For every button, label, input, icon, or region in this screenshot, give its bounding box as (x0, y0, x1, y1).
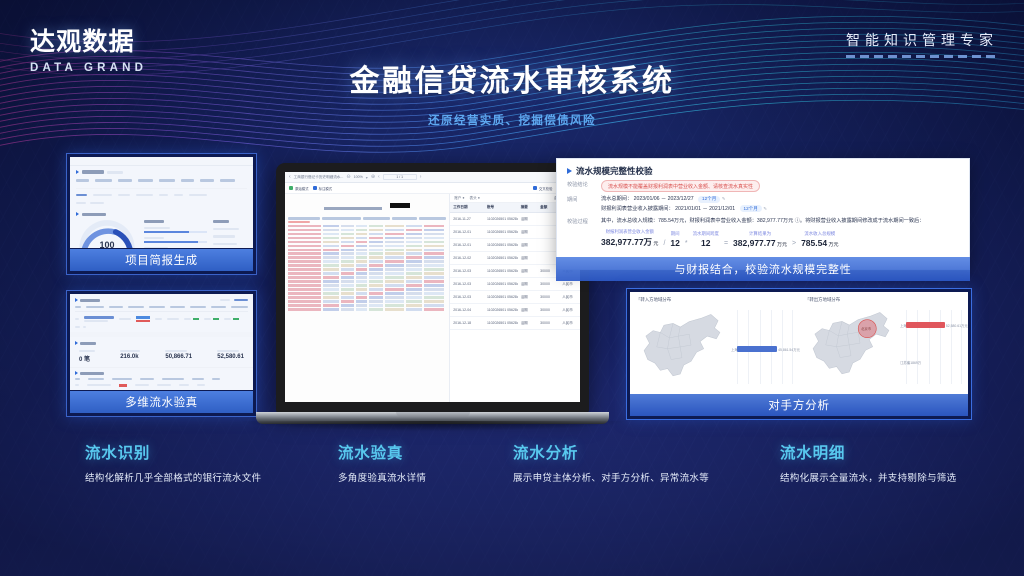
formula-item-6: 计算结果为382,977.77 万元 (733, 231, 787, 248)
table-cell: 1102026501 05628d490 (484, 243, 518, 247)
zoom-out-icon[interactable]: ⊖ (346, 174, 350, 180)
document-cell (369, 249, 383, 252)
page-indicator[interactable]: 1 / 1 (383, 174, 417, 180)
document-cell (356, 304, 367, 307)
next-page-icon[interactable]: › (420, 174, 422, 180)
document-cell (385, 284, 404, 287)
document-row (288, 300, 446, 303)
document-cell (369, 260, 383, 263)
document-cell (385, 296, 404, 299)
document-cell (406, 300, 422, 303)
document-cell (341, 272, 354, 275)
document-cell (369, 304, 383, 307)
document-cell (369, 245, 383, 248)
popup-integrity-check[interactable]: 流水规模完整性校验 校验结论 流水规模不能覆盖财报利润表中营业收入金额、请核查流… (556, 158, 970, 270)
document-cell (406, 292, 422, 295)
document-cell (288, 252, 321, 255)
page-title: 金融信贷流水审核系统 (0, 56, 1024, 100)
document-preview[interactable] (285, 194, 450, 402)
document-cell (356, 268, 367, 271)
table-cell: 2016-12-01 (450, 243, 484, 247)
document-cell (424, 249, 445, 252)
table-cell: 活期 (518, 256, 537, 261)
document-cell (288, 284, 321, 287)
col-date: 工作日期 (450, 205, 484, 210)
brand-tagline: 智能知识管理专家 (846, 30, 998, 58)
document-cell (323, 260, 339, 263)
document-row (288, 233, 446, 236)
document-cell (406, 304, 422, 307)
table-cell: 1102026501 05628d490 (484, 321, 518, 325)
table-cell: 1102026501 05628d490 (484, 295, 518, 299)
document-cell (406, 233, 422, 236)
document-cell (369, 264, 383, 267)
document-row (288, 272, 446, 275)
col-account: 账号 (484, 205, 518, 210)
feature-desc-3: 展示申贷主体分析、对手方分析、异常流水等 (513, 470, 709, 484)
document-cell (288, 268, 321, 271)
document-row (288, 229, 446, 232)
document-cell (406, 268, 422, 271)
document-row (288, 264, 446, 267)
card-screenshot-project-briefing: 100 (70, 157, 253, 248)
feature-title-4: 流水明细 (780, 441, 956, 463)
formula-item-4: 流水期间跨度12 (693, 231, 719, 248)
document-row (288, 304, 446, 307)
document-cell (424, 300, 445, 303)
document-cell (424, 256, 445, 259)
document-rows (285, 225, 449, 311)
document-cell (356, 241, 367, 244)
formula-item-2: 期间12 (670, 231, 679, 248)
document-row (288, 284, 446, 287)
table-cell: 人民币 (559, 282, 580, 287)
col-summary: 摘要 (518, 205, 537, 210)
bar-inbound-value: 45,861.54万元 (778, 347, 800, 352)
document-cell (323, 256, 339, 259)
document-cell (369, 296, 383, 299)
document-cell (385, 304, 404, 307)
laptop-mockup: ‹ 工商银行借记卡历史明细流水... ⊖ 100% ▾ ⊕ ‹ 1 / 1 › … (276, 163, 589, 413)
document-row (288, 249, 446, 252)
document-row (288, 252, 446, 255)
table-cell: 1102026501 05628d490 (484, 230, 518, 234)
document-cell (406, 296, 422, 299)
document-cell (356, 249, 367, 252)
tab-original-mode-label: 原始模式 (295, 186, 309, 191)
tab-annotate-mode-label: 标注模式 (319, 186, 333, 191)
document-cell (341, 229, 354, 232)
viewer-toolbar[interactable]: ‹ 工商银行借记卡历史明细流水... ⊖ 100% ▾ ⊕ ‹ 1 / 1 › … (285, 172, 580, 183)
table-cell: 30000 (537, 321, 559, 325)
panel-screenshot-counterparty: 「转入方地域分布 上海 45,861.54万元 「转出方地域分布 (630, 292, 968, 394)
document-cell (323, 229, 339, 232)
document-cell (369, 268, 383, 271)
table-cell: 1102026501 05628d490 (484, 269, 518, 273)
document-cell (385, 233, 404, 236)
caption-integrity-check-text: 与财报结合，校验流水规模完整性 (675, 261, 852, 277)
document-row (288, 276, 446, 279)
formula-key-2: 期间 (670, 231, 679, 237)
document-cell (385, 249, 404, 252)
conclusion-badge: 流水规模不能覆盖财报利润表中营业收入金额、请核查流水真实性 (601, 180, 760, 192)
period-1-tag[interactable]: 12个月 (698, 196, 720, 203)
period-2-value: 2021/01/01 － 2021/12/01 (675, 206, 735, 212)
document-cell (424, 292, 445, 295)
filter-account[interactable]: 账户 ● (454, 196, 464, 201)
formula-value-6: 382,977.77 万元 (733, 238, 787, 248)
map-inbound: 「转入方地域分布 上海 45,861.54万元 (630, 292, 799, 394)
document-cell (288, 288, 321, 291)
formula-operator-7: > (792, 240, 796, 248)
document-cell (356, 280, 367, 283)
table-cell: 2016-12-03 (450, 269, 484, 273)
table-row[interactable]: 2016-12-181102026501 05628d490活期30000人民币 (450, 317, 580, 330)
document-cell (341, 264, 354, 267)
document-row (288, 256, 446, 259)
document-cell (424, 308, 445, 311)
document-cell (341, 296, 354, 299)
period-2-tag[interactable]: 12个月 (740, 205, 762, 212)
document-cell (369, 280, 383, 283)
document-cell (406, 237, 422, 240)
formula-operator-3: * (685, 240, 688, 248)
document-cell (341, 241, 354, 244)
document-cell (369, 229, 383, 232)
document-cell (323, 304, 339, 307)
feature-liushui-mingxi: 流水明细 结构化展示全量流水，并支持剔除与筛选 (780, 441, 956, 484)
document-cell (356, 284, 367, 287)
document-cell (341, 249, 354, 252)
document-cell (356, 300, 367, 303)
tab-annotate-mode[interactable]: 标注模式 (313, 186, 333, 191)
popup-period-row: 期间 流水总期间： 2023/01/06 － 2023/12/27 12个月 ✎… (557, 192, 969, 212)
document-row (288, 292, 446, 295)
document-cell (385, 245, 404, 248)
document-cell (369, 241, 383, 244)
edit-icon-2[interactable]: ✎ (763, 206, 767, 211)
document-cell (385, 252, 404, 255)
table-cell: 活期 (518, 295, 537, 300)
document-cell (385, 225, 404, 228)
document-cell (323, 292, 339, 295)
viewer-filename: 工商银行借记卡历史明细流水... (294, 175, 344, 180)
tab-original-mode[interactable]: 原始模式 (289, 186, 309, 191)
document-cell (406, 264, 422, 267)
document-cell (424, 280, 445, 283)
document-cell (288, 229, 321, 232)
back-icon[interactable]: ‹ (289, 174, 291, 180)
document-cell (369, 272, 383, 275)
document-cell (341, 280, 354, 283)
document-cell (288, 304, 321, 307)
feature-title-2: 流水验真 (338, 441, 426, 463)
document-cell (356, 229, 367, 232)
document-cell (323, 252, 339, 255)
document-cell (323, 276, 339, 279)
popup-conclusion-row: 校验结论 流水规模不能覆盖财报利润表中营业收入金额、请核查流水真实性 (557, 177, 969, 192)
document-cell (356, 308, 367, 311)
formula-operator-1: / (663, 240, 665, 248)
table-cell: 2016-12-01 (450, 230, 484, 234)
process-label: 校验过程 (567, 217, 601, 225)
document-cell (341, 260, 354, 263)
document-cell (424, 304, 445, 307)
table-cell: 2016-12-04 (450, 308, 484, 312)
card-project-briefing[interactable]: 100 (66, 153, 257, 275)
document-cell (424, 264, 445, 267)
document-cell (424, 272, 445, 275)
document-cell (424, 237, 445, 240)
document-cell (323, 237, 339, 240)
table-cell: 活期 (518, 217, 537, 222)
document-cell (323, 280, 339, 283)
document-cell (356, 233, 367, 236)
document-cell (288, 280, 321, 283)
document-cell (424, 288, 445, 291)
chevron-down-icon[interactable]: ▾ (366, 175, 368, 180)
popup-title-row: 流水规模完整性校验 (557, 159, 969, 177)
card-screenshot-multidim: 0 笔 216.0k 50,866.71 52,580.61 (70, 294, 253, 390)
document-cell (341, 237, 354, 240)
document-cell (406, 252, 422, 255)
document-cell (323, 264, 339, 267)
document-cell (323, 245, 339, 248)
bar-outbound (906, 322, 944, 328)
score-gauge: 100 (76, 220, 138, 248)
bar-chart-inbound: 上海 45,861.54万元 (731, 304, 793, 388)
caption-counterparty-text: 对手方分析 (768, 397, 830, 413)
feature-desc-1: 结构化解析几乎全部格式的银行流水文件 (85, 470, 261, 484)
map-outbound: 「转出方地域分布 北京市 上海 52,580.61万元 (799, 292, 968, 394)
document-cell (385, 229, 404, 232)
formula-key-8: 流水收入总规模 (801, 231, 838, 237)
brand-tagline-text: 智能知识管理专家 (846, 30, 998, 50)
stats-row: 0 笔 216.0k 50,866.71 52,580.61 (75, 350, 248, 363)
feature-liushui-yanzhen: 流水验真 多角度验真流水详情 (338, 441, 426, 484)
feature-title-3: 流水分析 (513, 441, 709, 463)
document-cell (385, 276, 404, 279)
popup-title: 流水规模完整性校验 (576, 165, 653, 177)
document-cell (369, 284, 383, 287)
card-multidim-verification[interactable]: 0 笔 216.0k 50,866.71 52,580.61 (66, 290, 257, 417)
period-1-label: 流水总期间： (601, 196, 632, 202)
document-cell (356, 296, 367, 299)
triangle-right-icon (567, 168, 572, 174)
table-cell: 活期 (518, 321, 537, 326)
document-cell (356, 245, 367, 248)
table-cell: 30000 (537, 295, 559, 299)
laptop-screen: ‹ 工商银行借记卡历史明细流水... ⊖ 100% ▾ ⊕ ‹ 1 / 1 › … (285, 172, 580, 402)
table-row[interactable]: 2016-12-041102026501 05628d490活期30000人民币 (450, 304, 580, 317)
document-cell (356, 276, 367, 279)
table-cell: 2016-12-03 (450, 282, 484, 286)
prev-page-icon[interactable]: ‹ (378, 174, 380, 180)
gauge-value: 100 (76, 240, 138, 248)
formula-operator-5: = (724, 240, 728, 248)
formula-value-0: 382,977.77万 元 (601, 236, 658, 248)
document-cell (341, 233, 354, 236)
document-cell (406, 229, 422, 232)
document-cell (369, 308, 383, 311)
map-marker-label: 北京市 (861, 326, 871, 331)
document-cell (406, 256, 422, 259)
formula-row: 财报利润表营业收入金额382,977.77万 元/期间12*流水期间跨度12=计… (557, 225, 969, 248)
document-cell (369, 237, 383, 240)
zoom-in-icon[interactable]: ⊕ (371, 174, 375, 180)
period-1-value: 2023/01/06 － 2023/12/27 (634, 196, 694, 202)
document-cell (356, 292, 367, 295)
table-cell: 活期 (518, 269, 537, 274)
tool-cross-check[interactable]: 交叉校验 (533, 186, 553, 191)
document-row (288, 308, 446, 311)
document-cell (356, 264, 367, 267)
feature-title-1: 流水识别 (85, 441, 261, 463)
document-cell (406, 225, 422, 228)
document-cell (406, 272, 422, 275)
document-cell (385, 280, 404, 283)
document-row (288, 268, 446, 271)
formula-value-2: 12 (670, 238, 679, 248)
card-label-project-briefing: 项目简报生成 (70, 249, 253, 271)
document-cell (288, 256, 321, 259)
filter-header[interactable]: 表头 ● (470, 196, 480, 201)
document-cell (288, 260, 321, 263)
table-row[interactable]: 2016-12-031102026501 05628d490活期30000人民币 (450, 291, 580, 304)
table-cell: 1102026501 05628d490 (484, 282, 518, 286)
document-cell (369, 276, 383, 279)
document-cell (385, 256, 404, 259)
document-cell (288, 296, 321, 299)
document-cell (424, 296, 445, 299)
document-cell (424, 268, 445, 271)
document-cell (341, 288, 354, 291)
document-cell (424, 241, 445, 244)
document-cell (341, 256, 354, 259)
document-cell (385, 237, 404, 240)
document-cell (406, 260, 422, 263)
bar-outbound-value: 52,580.61万元 (946, 323, 968, 328)
panel-counterparty-analysis[interactable]: 「转入方地域分布 上海 45,861.54万元 「转出方地域分布 (626, 288, 972, 420)
document-cell (288, 276, 321, 279)
document-cell (323, 308, 339, 311)
document-row (288, 296, 446, 299)
card-label-multidim: 多维流水验真 (70, 391, 253, 413)
feature-desc-2: 多角度验真流水详情 (338, 470, 426, 484)
document-cell (424, 252, 445, 255)
formula-key-6: 计算结果为 (733, 231, 787, 237)
document-cell (424, 260, 445, 263)
document-cell (341, 292, 354, 295)
document-cell (424, 229, 445, 232)
document-cell (356, 225, 367, 228)
document-cell (288, 233, 321, 236)
document-cell (288, 264, 321, 267)
document-cell (424, 233, 445, 236)
document-cell (323, 225, 339, 228)
china-map-outbound (805, 307, 897, 381)
document-cell (288, 237, 321, 240)
document-cell (288, 292, 321, 295)
document-cell (288, 272, 321, 275)
document-cell (406, 288, 422, 291)
document-row (288, 245, 446, 248)
caption-integrity-check: 与财报结合，校验流水规模完整性 (556, 257, 970, 281)
document-cell (323, 249, 339, 252)
document-row (288, 225, 446, 228)
document-cell (369, 225, 383, 228)
document-cell (385, 241, 404, 244)
document-cell (369, 292, 383, 295)
document-cell (356, 288, 367, 291)
table-cell: 1102026501 05628d490 (484, 217, 518, 221)
document-cell (356, 237, 367, 240)
document-cell (323, 272, 339, 275)
table-cell: 活期 (518, 243, 537, 248)
china-map-inbound (636, 309, 728, 383)
document-cell (424, 276, 445, 279)
bar-chart-outbound: 上海 52,580.61万元 江苏省 0.1869万 (900, 304, 962, 388)
document-cell (323, 288, 339, 291)
document-cell (323, 300, 339, 303)
formula-key-4: 流水期间跨度 (693, 231, 719, 237)
document-row (288, 280, 446, 283)
document-cell (424, 245, 445, 248)
laptop-shadow (240, 421, 625, 431)
document-cell (356, 252, 367, 255)
document-cell (369, 233, 383, 236)
document-cell (406, 241, 422, 244)
table-cell: 活期 (518, 230, 537, 235)
document-cell (341, 300, 354, 303)
document-cell (341, 245, 354, 248)
document-cell (341, 304, 354, 307)
zoom-level: 100% (354, 175, 363, 179)
period-2-label: 财报利润表营业收入披露期间： (601, 206, 674, 212)
document-cell (323, 233, 339, 236)
viewer-mode-bar[interactable]: 原始模式 标注模式 交叉校验 自动识别 (285, 183, 580, 194)
brand-name-cn: 达观数据 (30, 22, 147, 58)
document-cell (385, 308, 404, 311)
document-cell (385, 288, 404, 291)
table-cell: 2016-12-18 (450, 321, 484, 325)
document-cell (341, 308, 354, 311)
document-cell (385, 264, 404, 267)
document-row (288, 260, 446, 263)
document-cell (288, 300, 321, 303)
document-cell (341, 284, 354, 287)
document-cell (406, 276, 422, 279)
formula-value-4: 12 (693, 238, 719, 248)
bar-outbound-second-value: 0.1869万 (907, 360, 921, 365)
feature-desc-4: 结构化展示全量流水，并支持剔除与筛选 (780, 470, 956, 484)
document-cell (288, 225, 321, 228)
table-cell: 1102026501 05628d490 (484, 256, 518, 260)
document-cell (356, 256, 367, 259)
table-cell: 1102026501 05628d490 (484, 308, 518, 312)
table-cell: 人民币 (559, 308, 580, 313)
document-cell (406, 280, 422, 283)
table-cell: 人民币 (559, 321, 580, 326)
formula-item-8: 流水收入总规模785.54 万元 (801, 231, 838, 248)
document-cell (323, 268, 339, 271)
popup-process-row: 校验过程 其中，流水总收入规模：785.54万元，财报利润表中营业收入金额：38… (557, 212, 969, 225)
edit-icon-1[interactable]: ✎ (722, 196, 726, 201)
document-cell (323, 296, 339, 299)
period-label: 期间 (567, 195, 601, 212)
document-cell (385, 260, 404, 263)
document-cell (369, 288, 383, 291)
